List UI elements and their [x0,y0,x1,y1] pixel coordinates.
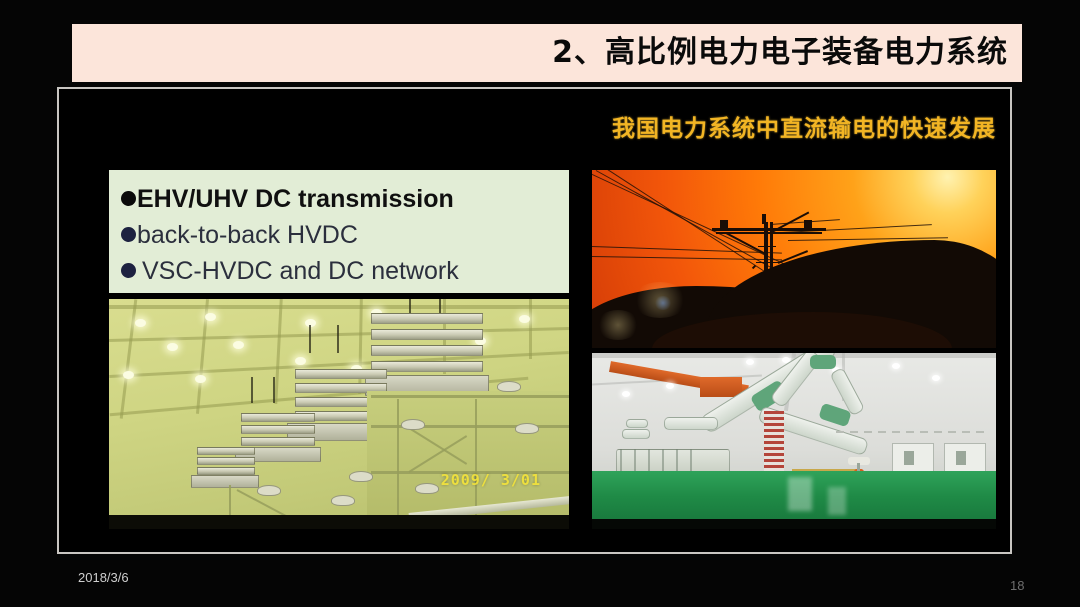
content-frame: 我国电力系统中直流输电的快速发展 EHV/UHV DC transmission… [57,87,1012,554]
bullet-list-panel: EHV/UHV DC transmission back-to-back HVD… [109,170,569,293]
footer-page-number: 18 [1010,578,1024,593]
photo-valve-hall: 2009/ 3/01 [109,299,569,529]
bullet-label: VSC-HVDC and DC network [142,254,459,288]
bullet-dot-icon [121,191,136,206]
photo-transmission-tower [592,170,996,348]
bullet-dot-icon [121,227,136,242]
bullet-label: back-to-back HVDC [137,218,358,252]
list-item: back-to-back HVDC [121,218,569,252]
footer-date: 2018/3/6 [78,570,129,585]
list-item: VSC-HVDC and DC network [121,254,569,288]
slide-canvas: 2、高比例电力电子装备电力系统 我国电力系统中直流输电的快速发展 EHV/UHV… [0,0,1080,607]
page-title: 2、高比例电力电子装备电力系统 [552,38,1008,68]
section-subtitle: 我国电力系统中直流输电的快速发展 [612,109,996,143]
slide-title-bar: 2、高比例电力电子装备电力系统 [72,24,1022,82]
photo-converter-station [592,353,996,529]
bullet-dot-icon [121,263,136,278]
list-item: EHV/UHV DC transmission [121,182,569,216]
photo-timestamp-overlay: 2009/ 3/01 [441,471,541,489]
bullet-label: EHV/UHV DC transmission [137,182,454,216]
